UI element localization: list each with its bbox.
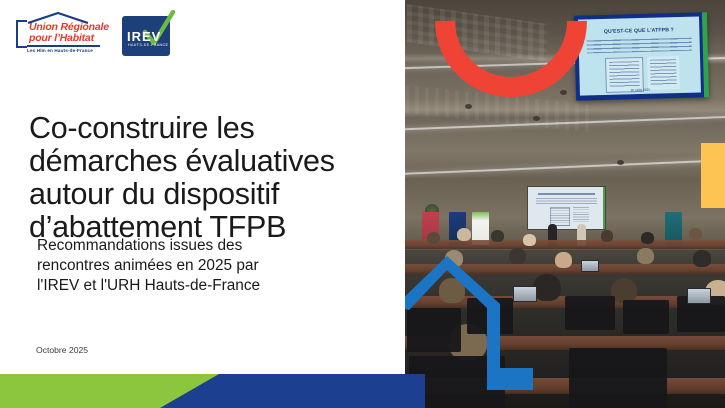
urh-rule: [27, 45, 100, 47]
projection-screen-top: QU'EST-CE QUE L'ATFPB ? 30 juillet 2025: [574, 12, 709, 100]
laptop: [687, 288, 711, 304]
screen-green-edge: [702, 12, 709, 97]
audience-head: [693, 250, 711, 267]
page-title: Co-construire les démarches évaluatives …: [29, 112, 389, 244]
screen-box-right: [573, 207, 589, 224]
urh-line-2: pour l’Habitat: [29, 33, 101, 44]
yellow-rectangle-shape: [701, 143, 725, 208]
audience-head: [641, 232, 654, 244]
title-panel: Union Régionale pour l’Habitat Les Hlm e…: [0, 0, 405, 408]
projected-slide-box-right: [647, 56, 680, 90]
screen-paragraph-lines: [536, 198, 597, 205]
irev-subline: HAUTS-DE-FRANCE: [128, 43, 168, 47]
subtitle-line-2: rencontres animées en 2025 par: [37, 257, 259, 274]
urh-tagline: Les Hlm en Hauts-de-France: [27, 48, 93, 53]
logo-row: Union Régionale pour l’Habitat Les Hlm e…: [16, 10, 176, 58]
projected-slide-paragraph: [587, 38, 692, 54]
ceiling-spotlight: [465, 104, 472, 109]
ceiling-spotlight: [560, 90, 567, 95]
urh-logo: Union Régionale pour l’Habitat Les Hlm e…: [16, 10, 102, 56]
ceiling-spotlight: [617, 160, 624, 165]
title-line-1: Co-construire les: [29, 111, 254, 145]
projected-slide-heading: QU'EST-CE QUE L'ATFPB ?: [578, 26, 699, 35]
audience-head: [637, 248, 654, 264]
slide-date: Octobre 2025: [36, 345, 88, 355]
irev-logo: IREV HAUTS-DE-FRANCE: [120, 10, 176, 58]
blue-house-outline-shape: [405, 240, 605, 408]
page-subtitle: Recommandations issues des rencontres an…: [37, 236, 367, 296]
audience-head: [689, 228, 702, 240]
subtitle-line-3: l'IREV et l'URH Hauts-de-France: [37, 277, 260, 294]
urh-wordmark: Union Régionale pour l’Habitat: [29, 22, 101, 44]
screen-title-line: [538, 193, 595, 195]
ceiling-light-strip: [405, 159, 725, 175]
title-line-3: autour du dispositif: [29, 177, 279, 211]
ceiling-spotlight: [533, 116, 540, 121]
projection-screen-bottom: [527, 186, 606, 230]
irev-wordmark: IREV: [127, 29, 161, 44]
chair-back: [623, 300, 669, 334]
screen-green-edge: [603, 187, 606, 229]
screen-canvas: QU'EST-CE QUE L'ATFPB ? 30 juillet 2025: [578, 16, 701, 95]
subtitle-line-1: Recommandations issues des: [37, 237, 242, 254]
title-line-2: démarches évaluatives: [29, 144, 335, 178]
urh-bracket-shape: [16, 20, 27, 48]
projected-slide-footer: 30 juillet 2025: [580, 86, 701, 93]
presentation-title-slide: QU'EST-CE QUE L'ATFPB ? 30 juillet 2025: [0, 0, 725, 408]
